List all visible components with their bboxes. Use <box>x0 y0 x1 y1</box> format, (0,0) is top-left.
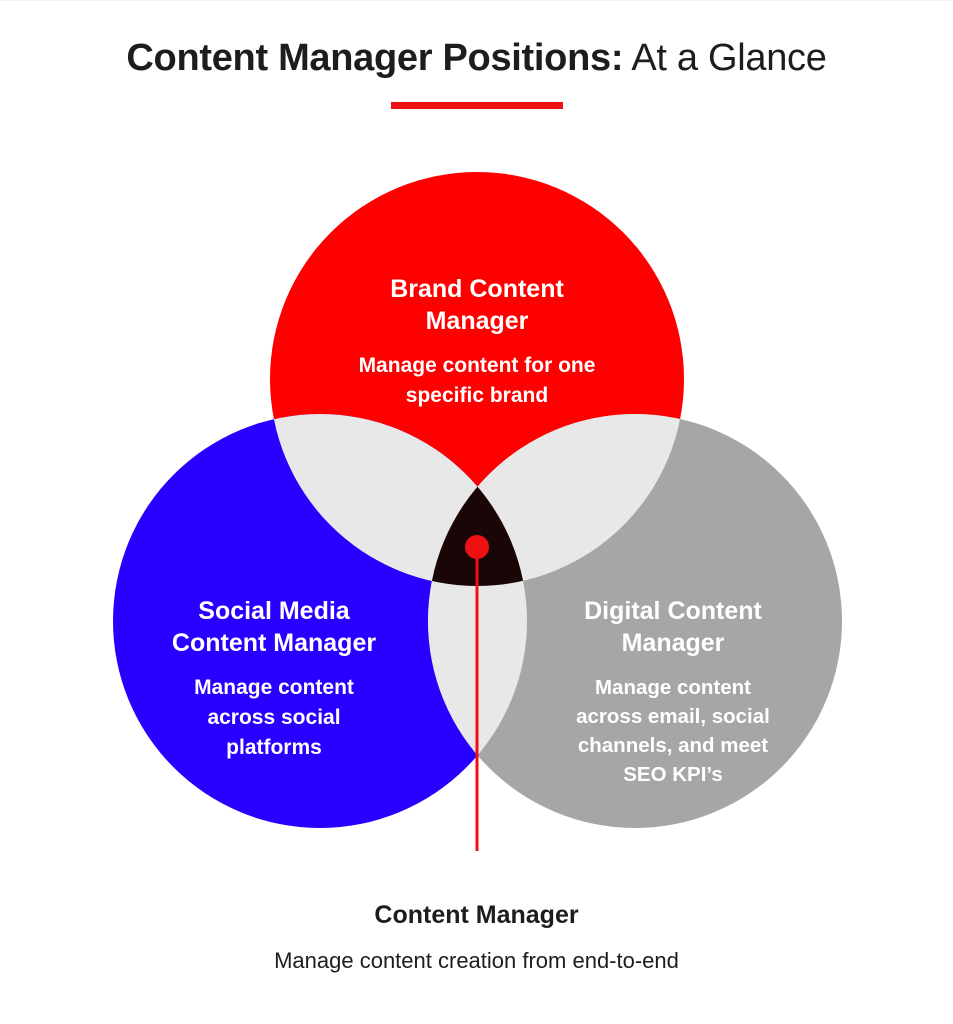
title-underline-rule <box>391 102 563 109</box>
venn-label-social-media-title-line2: Content Manager <box>172 629 376 657</box>
venn-label-brand-desc-line2: specific brand <box>406 384 548 407</box>
venn-label-social-media-title: Social Media Content Manager <box>128 595 420 659</box>
venn-label-digital-desc: Manage content across email, social chan… <box>528 673 818 789</box>
venn-label-digital-desc-line3: channels, and meet <box>578 734 768 757</box>
venn-label-brand-desc-line1: Manage content for one <box>359 354 596 377</box>
venn-diagram: Brand Content Manager Manage content for… <box>0 151 953 851</box>
venn-label-brand-desc: Manage content for one specific brand <box>317 351 637 411</box>
venn-label-brand: Brand Content Manager Manage content for… <box>317 273 637 411</box>
infographic-page: Content Manager Positions: At a Glance <box>0 0 953 1024</box>
page-title-light: At a Glance <box>623 37 826 79</box>
venn-label-brand-title-line1: Brand Content <box>390 275 564 303</box>
page-title-strong: Content Manager Positions: <box>126 37 623 79</box>
venn-label-digital-title-line2: Manager <box>622 629 725 657</box>
venn-label-social-media-desc-line1: Manage content <box>194 676 354 699</box>
venn-label-digital-desc-line1: Manage content <box>595 676 751 699</box>
venn-label-social-media-title-line1: Social Media <box>198 597 349 625</box>
venn-label-digital-title: Digital Content Manager <box>528 595 818 659</box>
venn-label-brand-title: Brand Content Manager <box>317 273 637 337</box>
venn-label-social-media-desc-line3: platforms <box>226 736 322 759</box>
center-marker-dot <box>465 535 489 559</box>
venn-label-social-media: Social Media Content Manager Manage cont… <box>128 595 420 763</box>
center-intersection-caption: Content Manager Manage content creation … <box>0 899 953 976</box>
venn-label-digital-desc-line2: across email, social <box>576 705 770 728</box>
page-title: Content Manager Positions: At a Glance <box>0 35 953 81</box>
venn-label-digital-desc-line4: SEO KPI’s <box>623 763 723 786</box>
venn-label-digital: Digital Content Manager Manage content a… <box>528 595 818 789</box>
center-intersection-title: Content Manager <box>0 899 953 931</box>
venn-label-digital-title-line1: Digital Content <box>584 597 762 625</box>
header: Content Manager Positions: At a Glance <box>0 35 953 109</box>
venn-label-social-media-desc: Manage content across social platforms <box>128 673 420 763</box>
venn-label-brand-title-line2: Manager <box>426 307 529 335</box>
venn-label-social-media-desc-line2: across social <box>207 706 340 729</box>
center-intersection-description: Manage content creation from end-to-end <box>0 946 953 976</box>
